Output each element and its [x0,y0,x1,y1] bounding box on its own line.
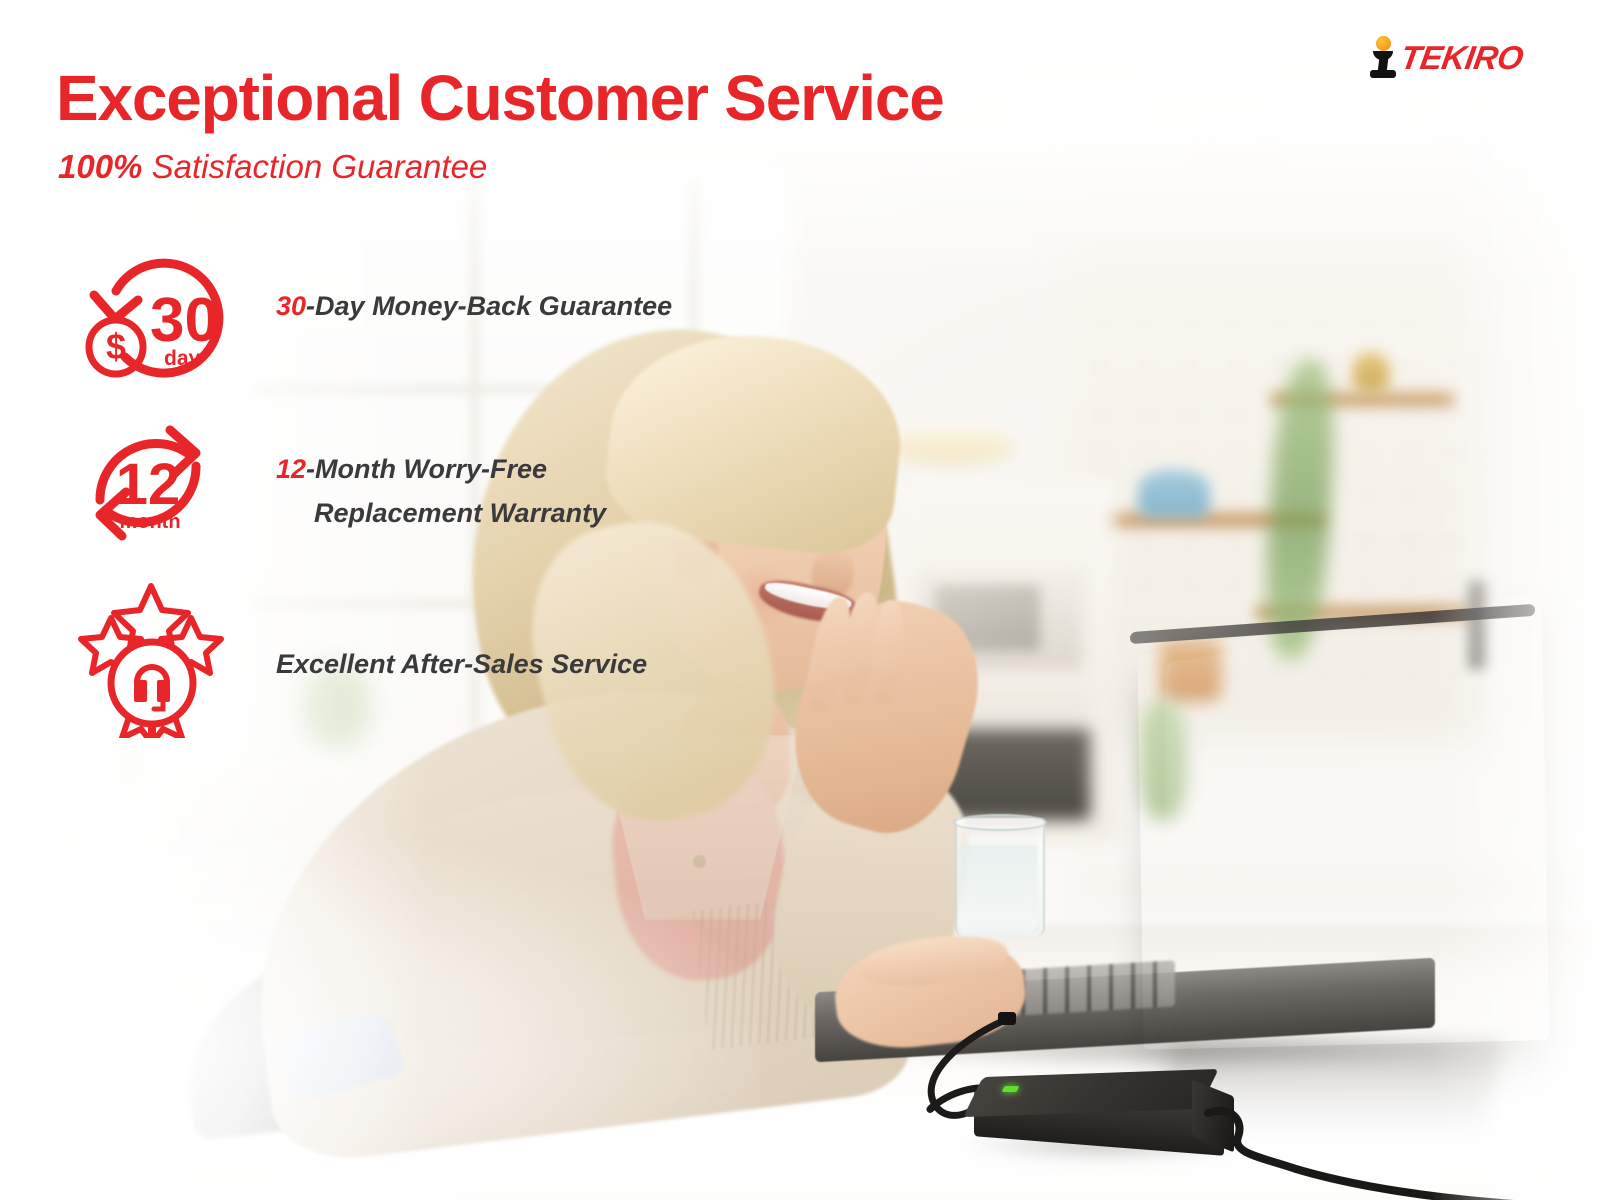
subtitle-rest: Satisfaction Guarantee [142,148,487,185]
trophy-i-icon [1368,36,1398,80]
money-back-30-day-icon: $ 30 day [78,243,248,403]
tekiro-logo: TEKIRO [1368,36,1523,80]
page-subtitle: 100% Satisfaction Guarantee [58,148,487,186]
badge-circle [111,642,193,724]
icon-number-12: 12 [116,452,181,517]
feature-money-back: $ 30 day [78,243,248,403]
subtitle-percent: 100% [58,148,142,185]
after-sales-support-badge-icon [78,578,248,738]
replacement-warranty-12-month-icon: 12 month [78,408,248,568]
feature-after-sales-label: Excellent After-Sales Service [276,643,647,687]
icon-number-30: 30 [150,286,219,355]
logo-wordmark: TEKIRO [1398,39,1526,77]
feature-warranty: 12 month [78,408,248,568]
feature-2-number: 12 [276,454,306,484]
page-title: Exceptional Customer Service [56,66,944,130]
headset-earcup-right [157,680,170,702]
feature-3-text: Excellent After-Sales Service [276,649,647,679]
icon-unit-month: month [119,511,180,533]
feature-2-text: -Month Worry-Free [306,454,547,484]
feature-money-back-label: 30-Day Money-Back Guarantee [276,285,672,329]
feature-2-text-line2: Replacement Warranty [276,492,606,536]
feature-after-sales [78,578,248,738]
content-overlay: TEKIRO Exceptional Customer Service 100%… [0,0,1600,1200]
headset-earcup-left [134,680,147,702]
feature-1-number: 30 [276,291,306,321]
feature-warranty-label: 12-Month Worry-Free Replacement Warranty [276,448,606,535]
icon-unit-day: day [164,347,201,370]
dollar-sign-glyph: $ [106,326,126,367]
feature-1-text: -Day Money-Back Guarantee [306,291,672,321]
